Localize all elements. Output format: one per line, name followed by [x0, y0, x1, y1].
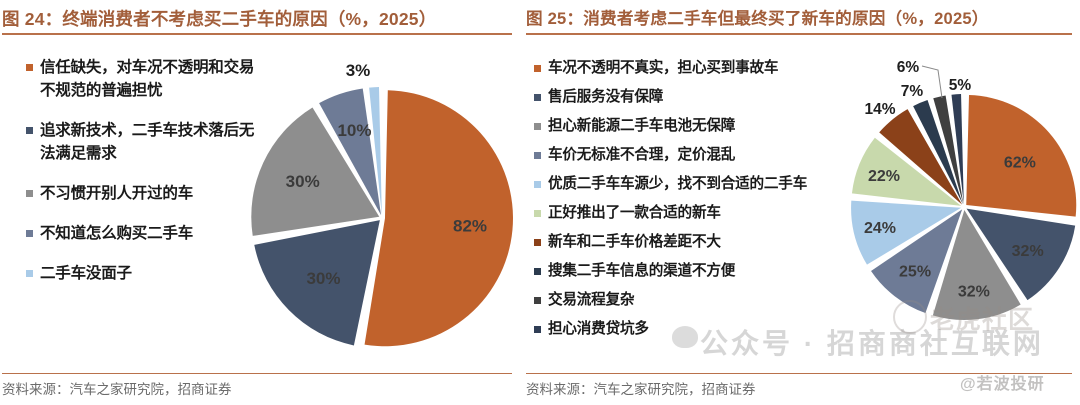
figure-25-legend-item-0: 车况不透明不真实，担心买到事故车: [534, 58, 807, 79]
pie-data-label-4: 24%: [864, 220, 896, 237]
legend-bullet-icon: [534, 123, 541, 130]
figure-25-legend-label: 交易流程复杂: [548, 290, 634, 311]
figure-25-legend-item-6: 新车和二手车价格差距不大: [534, 232, 807, 253]
pie-data-label-2: 32%: [958, 283, 990, 300]
figure-24-title: 图 24：终端消费者不考虑买二手车的原因（%，2025）: [2, 8, 512, 30]
figure-24-source: 资料来源：汽车之家研究院，招商证券: [2, 378, 232, 398]
legend-bullet-icon: [534, 152, 541, 159]
figure-25-pie-svg: 62%32%32%25%24%22%14%7%6%5%: [838, 52, 1080, 342]
figure-24-title-rule: [2, 33, 512, 35]
figure-25-title: 图 25：消费者考虑二手车但最终买了新车的原因（%，2025）: [526, 8, 1072, 30]
figure-25-legend-item-4: 优质二手车车源少，找不到合适的二手车: [534, 174, 807, 195]
figure-25-legend-item-1: 售后服务没有保障: [534, 87, 807, 108]
legend-bullet-icon: [26, 190, 33, 197]
figure-25-legend-label: 优质二手车车源少，找不到合适的二手车: [548, 174, 807, 195]
figure-25-legend: 车况不透明不真实，担心买到事故车售后服务没有保障担心新能源二手车电池无保障车价无…: [534, 58, 807, 348]
pie-data-label-9: 5%: [949, 77, 972, 94]
legend-bullet-icon: [26, 127, 33, 134]
figure-25-legend-label: 新车和二手车价格差距不大: [548, 232, 721, 253]
figure-25-legend-label: 售后服务没有保障: [548, 87, 663, 108]
pie-leader-line-8: [922, 66, 942, 98]
figure-24-legend: 信任缺失，对车况不透明和交易不规范的普遍担忧追求新技术，二手车技术落后无法满足需…: [26, 56, 255, 302]
pie-data-label-6: 14%: [864, 101, 895, 118]
wechat-logo-icon: [672, 326, 698, 348]
figure-24-pie-chart: 82%30%30%10%3%: [242, 58, 522, 358]
figure-25-legend-label: 担心消费贷坑多: [548, 319, 649, 340]
figure-24-legend-item-1: 追求新技术，二手车技术落后无法满足需求: [26, 119, 255, 165]
figure-24-panel: 图 24：终端消费者不考虑买二手车的原因（%，2025） 信任缺失，对车况不透明…: [0, 0, 520, 405]
pie-data-label-0: 62%: [1004, 154, 1036, 171]
legend-bullet-icon: [534, 326, 541, 333]
figure-24-legend-label: 信任缺失，对车况不透明和交易不规范的普遍担忧: [40, 56, 255, 102]
figure-24-legend-item-2: 不习惯开别人开过的车: [26, 182, 255, 205]
figure-25-legend-item-2: 担心新能源二手车电池无保障: [534, 116, 807, 137]
tiger-logo-icon: [893, 300, 927, 334]
figure-25-footer-rule: [526, 373, 1072, 374]
figure-24-legend-label: 不知道怎么购买二手车: [40, 222, 193, 245]
pie-slice-0: [365, 90, 513, 346]
figure-24-legend-label: 二手车没面子: [40, 262, 132, 285]
pie-data-label-3: 10%: [337, 121, 371, 140]
pie-data-label-4: 3%: [346, 61, 371, 80]
legend-bullet-icon: [534, 94, 541, 101]
pie-data-label-1: 32%: [1012, 243, 1044, 260]
legend-bullet-icon: [534, 297, 541, 304]
legend-bullet-icon: [26, 270, 33, 277]
legend-bullet-icon: [534, 268, 541, 275]
figure-25-legend-label: 正好推出了一款合适的新车: [548, 203, 721, 224]
pie-data-label-2: 30%: [286, 172, 320, 191]
figure-25-legend-label: 搜集二手车信息的渠道不方便: [548, 261, 735, 282]
figure-24-pie-svg: 82%30%30%10%3%: [242, 58, 522, 358]
figure-25-source: 资料来源：汽车之家研究院，招商证券: [526, 378, 756, 398]
figure-25-legend-label: 车价无标准不合理，定价混乱: [548, 145, 735, 166]
figure-25-legend-label: 担心新能源二手车电池无保障: [548, 116, 735, 137]
figure-25-legend-item-3: 车价无标准不合理，定价混乱: [534, 145, 807, 166]
figure-25-title-rule: [526, 33, 1072, 35]
legend-bullet-icon: [534, 181, 541, 188]
pie-data-label-0: 82%: [453, 217, 487, 236]
legend-bullet-icon: [26, 230, 33, 237]
legend-bullet-icon: [26, 64, 33, 71]
figure-24-legend-item-3: 不知道怎么购买二手车: [26, 222, 255, 245]
figure-24-footer-rule: [2, 373, 512, 374]
pie-data-label-5: 22%: [868, 168, 900, 185]
figure-25-legend-item-7: 搜集二手车信息的渠道不方便: [534, 261, 807, 282]
figure-25-legend-item-5: 正好推出了一款合适的新车: [534, 203, 807, 224]
figure-24-legend-item-0: 信任缺失，对车况不透明和交易不规范的普遍担忧: [26, 56, 255, 102]
figure-24-legend-label: 不习惯开别人开过的车: [40, 182, 193, 205]
legend-bullet-icon: [534, 239, 541, 246]
figure-24-legend-label: 追求新技术，二手车技术落后无法满足需求: [40, 119, 255, 165]
pie-data-label-3: 25%: [899, 263, 931, 280]
figure-24-legend-item-4: 二手车没面子: [26, 262, 255, 285]
legend-bullet-icon: [534, 210, 541, 217]
figure-25-legend-item-8: 交易流程复杂: [534, 290, 807, 311]
pie-data-label-8: 6%: [897, 59, 920, 76]
pie-data-label-1: 30%: [306, 269, 340, 288]
figure-25-pie-chart: 62%32%32%25%24%22%14%7%6%5%: [838, 52, 1080, 342]
figure-25-legend-label: 车况不透明不真实，担心买到事故车: [548, 58, 778, 79]
legend-bullet-icon: [534, 65, 541, 72]
figure-page: 图 24：终端消费者不考虑买二手车的原因（%，2025） 信任缺失，对车况不透明…: [0, 0, 1080, 405]
pie-data-label-7: 7%: [901, 83, 924, 100]
figure-25-legend-item-9: 担心消费贷坑多: [534, 319, 807, 340]
